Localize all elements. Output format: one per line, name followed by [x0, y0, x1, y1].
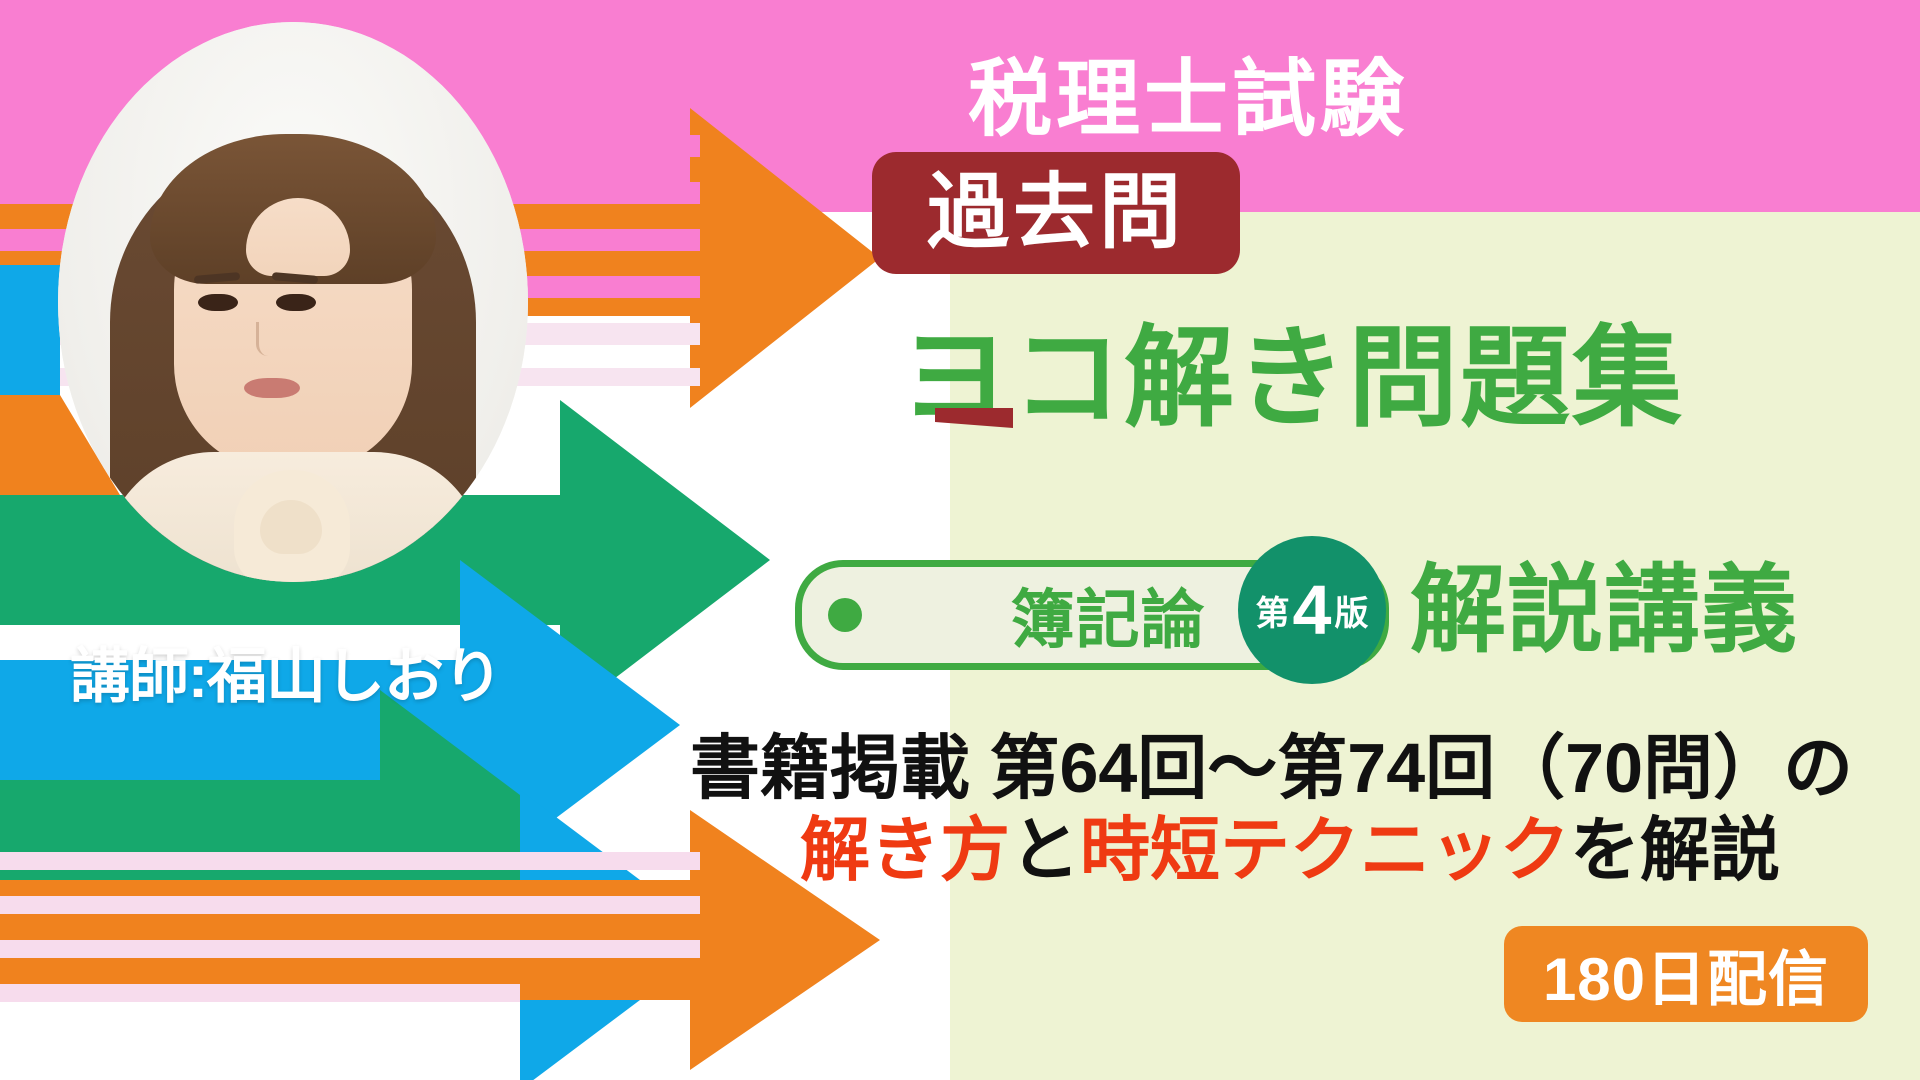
- page-title: ヨコ解き問題集: [900, 288, 1684, 448]
- delivery-period-label: 180日配信: [1543, 931, 1829, 1018]
- exam-title: 税理士試験: [968, 32, 1408, 153]
- promo-banner: 講師:福山しおり 税理士試験 過去問 ヨコ解き問題集 簿記論 第 4 版 解説講…: [0, 0, 1920, 1080]
- delivery-period-badge: 180日配信: [1504, 926, 1868, 1022]
- stripe-bottom-3: [0, 940, 700, 958]
- description-line-2: 解き方と時短テクニックを解説: [800, 794, 1780, 895]
- desc-plain-2: を解説: [1570, 811, 1780, 889]
- subject-dot-icon: [828, 598, 862, 632]
- edition-number: 4: [1293, 575, 1332, 645]
- lecture-label: 解説講義: [1410, 532, 1798, 671]
- past-exam-badge: 過去問: [872, 152, 1240, 274]
- instructor-name: 講師:福山しおり: [70, 628, 502, 715]
- edition-suffix: 版: [1334, 586, 1368, 635]
- desc-plain-1: と: [1010, 811, 1080, 889]
- edition-prefix: 第: [1256, 586, 1290, 635]
- edition-badge: 第 4 版: [1238, 536, 1386, 684]
- desc-highlight-1: 解き方: [800, 811, 1010, 889]
- stripe-bottom-2: [0, 896, 700, 914]
- stripe-bottom-4: [0, 984, 520, 1002]
- past-exam-label: 過去問: [927, 172, 1185, 254]
- instructor-portrait: [58, 22, 528, 582]
- desc-highlight-2: 時短テクニック: [1080, 811, 1570, 889]
- stripe-bottom-1: [0, 852, 700, 870]
